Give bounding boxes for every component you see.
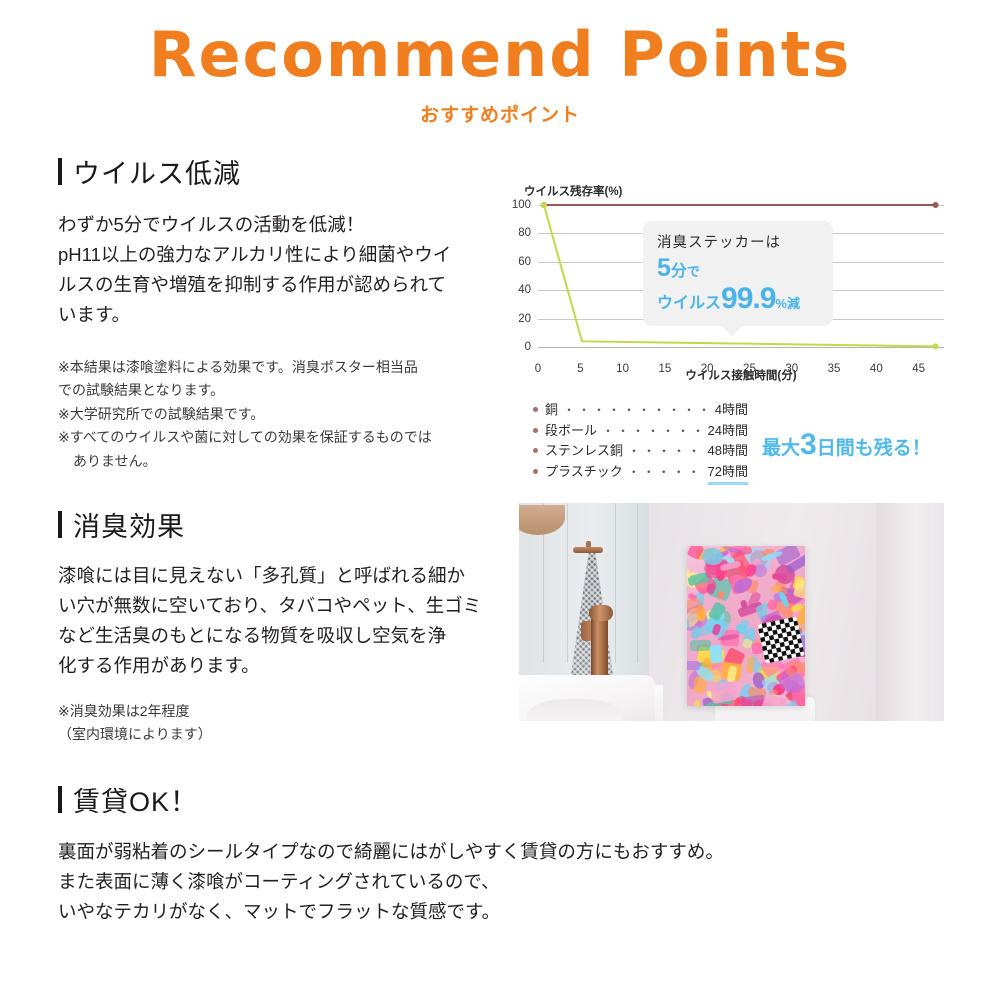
body-line: ルスの生育や増殖を抑制する作用が認められて — [58, 270, 523, 300]
material-name: プラスチック — [545, 462, 623, 483]
bathroom-poster-photo — [519, 503, 944, 729]
photo-panel-line — [567, 503, 568, 663]
leader-dots: ・・・・・・・・・・・ — [563, 401, 710, 420]
section-title: 賃貸OK！ — [73, 780, 198, 819]
body-line: 裏面が弱粘着のシールタイプなので綺麗にはがしやすく賃貸の方にもおすすめ。 — [58, 837, 938, 867]
callout-percent-number: 99.9 — [721, 282, 775, 315]
duration-value: 24時間 — [708, 421, 748, 442]
chart-x-tick-label: 45 — [912, 363, 925, 375]
callout-percent-sign: % — [775, 296, 787, 311]
body-line: います。 — [58, 300, 523, 330]
chart-data-point — [933, 343, 939, 349]
material-name: 銅 — [545, 400, 558, 421]
chart-gridline — [538, 347, 944, 348]
poster-sticker — [709, 644, 722, 662]
section-body: 漆喰には目に見えない「多孔質」と呼ばれる細か い穴が無数に空いており、タバコやペ… — [58, 561, 508, 681]
poster-sticker — [746, 657, 755, 674]
body-line: また表面に薄く漆喰がコーティングされているので、 — [58, 867, 938, 897]
chart-x-tick-label: 40 — [870, 363, 883, 375]
section-title: 消臭効果 — [73, 505, 185, 544]
body-line: い穴が無数に空いており、タバコやペット、生ゴミ — [58, 591, 508, 621]
duration-value-highlighted: 72時間 — [708, 462, 748, 486]
chart-y-tick-label: 20 — [518, 313, 531, 325]
callout-line-3: ウイルス99.9%減 — [657, 283, 820, 315]
virus-survival-chart: ウイルス残存率(%) 消臭ステッカーは 5分で ウイルス99.9%減 02040… — [524, 183, 944, 383]
note-line: ※大学研究所での試験結果です。 — [58, 403, 523, 427]
page-subtitle: おすすめポイント — [0, 100, 1000, 127]
poster-sticker — [693, 700, 700, 706]
chart-x-axis: 051015202530354045 — [538, 359, 944, 377]
duration-value: 4時間 — [715, 400, 748, 421]
chart-y-tick-label: 100 — [512, 199, 531, 211]
max-days-badge: 最大3日間も残る！ — [762, 428, 931, 462]
list-item: 段ボール ・・・・・・・・ 24時間 — [533, 421, 748, 442]
bullet-icon — [533, 448, 538, 453]
chart-y-tick-label: 80 — [518, 227, 531, 239]
section-heading: ウイルス低減 — [58, 152, 523, 191]
bullet-icon — [533, 428, 538, 433]
poster-sticker — [687, 661, 700, 670]
badge-suffix: 日間も残る！ — [817, 438, 931, 459]
poster-checker-sticker — [757, 616, 804, 663]
heading-bar-icon — [58, 158, 62, 185]
page-title: Recommend Points — [0, 24, 1000, 86]
callout-minutes-number: 5 — [657, 254, 671, 282]
callout-percent-tail: 減 — [787, 296, 800, 311]
body-line: など生活臭のもとになる物質を吸収し空気を浄 — [58, 621, 508, 651]
chart-y-axis-label: ウイルス残存率(%) — [524, 183, 944, 199]
note-line: ※すべてのウイルスや菌に対しての効果を保証するものでは — [58, 426, 523, 450]
chart-x-tick-label: 25 — [743, 363, 756, 375]
body-line: pH11以上の強力なアルカリ性により細菌やウイ — [58, 240, 523, 270]
material-name: 段ボール — [545, 421, 597, 442]
photo-floor — [519, 721, 944, 729]
duration-value: 48時間 — [708, 441, 748, 462]
section-heading: 賃貸OK！ — [58, 780, 938, 819]
leader-dots: ・・・・・ — [628, 463, 703, 482]
chart-plot-area: 消臭ステッカーは 5分で ウイルス99.9%減 020406080100 — [538, 205, 944, 347]
note-line: ※消臭効果は2年程度 — [58, 700, 508, 724]
section-virus-reduction: ウイルス低減 わずか5分でウイルスの活動を低減！ pH11以上の強力なアルカリ性… — [58, 152, 523, 473]
section-title: ウイルス低減 — [73, 152, 241, 191]
chart-data-point — [933, 202, 939, 208]
body-line: 化する作用があります。 — [58, 651, 508, 681]
chart-x-tick-label: 0 — [535, 363, 541, 375]
section-notes: ※消臭効果は2年程度 （室内環境によります） — [58, 700, 508, 747]
note-line: ありません。 — [58, 450, 523, 474]
chart-y-tick-label: 40 — [518, 284, 531, 296]
note-line: （室内環境によります） — [58, 723, 508, 747]
chart-x-tick-label: 15 — [658, 363, 671, 375]
chart-x-tick-label: 20 — [701, 363, 714, 375]
note-line: での試験結果となります。 — [58, 379, 523, 403]
section-body: わずか5分でウイルスの活動を低減！ pH11以上の強力なアルカリ性により細菌やウ… — [58, 210, 523, 330]
chart-y-tick-label: 0 — [525, 341, 531, 353]
leader-dots: ・・・・・・・・ — [602, 422, 703, 441]
callout-minutes-tail: で — [687, 264, 700, 279]
photo-panel-line — [637, 503, 638, 663]
body-line: わずか5分でウイルスの活動を低減！ — [58, 210, 523, 240]
heading-bar-icon — [58, 511, 62, 538]
sticker-collage-poster — [687, 546, 805, 706]
note-line: ※本結果は漆喰塗料による効果です。消臭ポスター相当品 — [58, 356, 523, 380]
chart-callout-bubble: 消臭ステッカーは 5分で ウイルス99.9%減 — [643, 221, 833, 326]
list-item: 銅 ・・・・・・・・・・・ 4時間 — [533, 400, 748, 421]
section-deodorizing-effect: 消臭効果 漆喰には目に見えない「多孔質」と呼ばれる細か い穴が無数に空いており、… — [58, 505, 508, 747]
faucet-spout — [589, 605, 613, 621]
towel-hook-icon — [573, 547, 603, 553]
list-item: ステンレス銅 ・・・・・ 48時間 — [533, 441, 748, 462]
badge-prefix: 最大 — [762, 438, 800, 459]
survival-duration-list: 銅 ・・・・・・・・・・・ 4時間 段ボール ・・・・・・・・ 24時間 ステン… — [533, 400, 748, 485]
chart-x-tick-label: 5 — [577, 363, 583, 375]
chart-x-tick-label: 30 — [785, 363, 798, 375]
poster-sticker — [689, 640, 710, 652]
faucet-body — [591, 611, 608, 683]
body-line: いやなテカリがなく、マットでフラットな質感です。 — [58, 897, 938, 927]
bullet-icon — [533, 469, 538, 474]
leader-dots: ・・・・・ — [628, 442, 703, 461]
recommend-points-page: Recommend Points おすすめポイント ウイルス低減 わずか5分でウ… — [0, 0, 1000, 1000]
chart-y-tick-label: 60 — [518, 256, 531, 268]
badge-number: 3 — [800, 428, 817, 461]
page-header: Recommend Points おすすめポイント — [0, 24, 1000, 127]
section-heading: 消臭効果 — [58, 505, 508, 544]
photo-panel-line — [615, 503, 616, 663]
chart-x-tick-label: 35 — [828, 363, 841, 375]
body-line: 漆喰には目に見えない「多孔質」と呼ばれる細か — [58, 561, 508, 591]
material-name: ステンレス銅 — [545, 441, 623, 462]
section-body: 裏面が弱粘着のシールタイプなので綺麗にはがしやすく賃貸の方にもおすすめ。 また表… — [58, 837, 938, 927]
list-item: プラスチック ・・・・・ 72時間 — [533, 462, 748, 486]
heading-bar-icon — [58, 786, 62, 813]
callout-virus-label: ウイルス — [657, 295, 721, 312]
callout-line-2: 5分で — [657, 254, 820, 283]
callout-line-1: 消臭ステッカーは — [657, 231, 820, 252]
callout-minutes-unit: 分 — [671, 263, 687, 280]
bullet-icon — [533, 407, 538, 412]
chart-x-tick-label: 10 — [616, 363, 629, 375]
section-notes: ※本結果は漆喰塗料による効果です。消臭ポスター相当品 での試験結果となります。 … — [58, 356, 523, 474]
photo-wall-corner — [876, 503, 944, 729]
chart-data-point — [541, 202, 547, 208]
section-rental-ok: 賃貸OK！ 裏面が弱粘着のシールタイプなので綺麗にはがしやすく賃貸の方にもおすす… — [58, 780, 938, 927]
